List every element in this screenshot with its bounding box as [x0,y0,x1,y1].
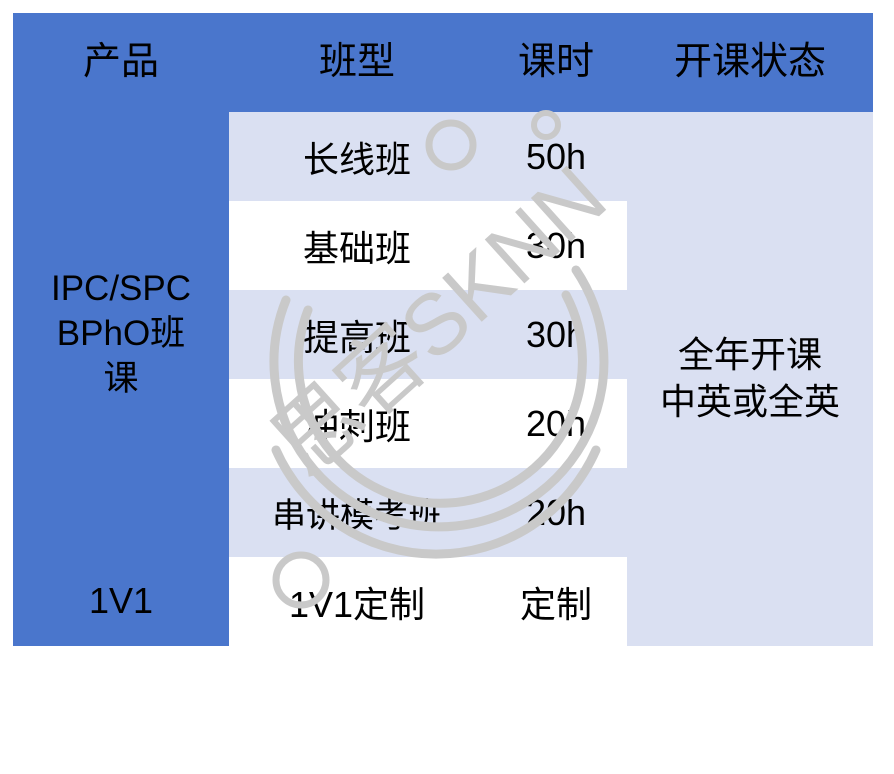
class-hours-cell: 20h [485,379,627,468]
class-hours-cell: 30h [485,201,627,290]
class-type-cell: 串讲模考班 [229,468,485,557]
product-group-cell: 1V1 [13,557,229,646]
column-header-type: 班型 [229,13,485,112]
product-line: 课 [13,357,229,402]
course-table: 产品 班型 课时 开课状态 IPC/SPC BPhO班 课 长线班 50h [13,13,873,646]
table-header-row: 产品 班型 课时 开课状态 [13,13,873,112]
class-hours-cell: 定制 [485,557,627,646]
status-cell: 全年开课 中英或全英 [627,112,873,646]
class-type-cell: 1V1定制 [229,557,485,646]
class-hours-cell: 20h [485,468,627,557]
course-table-page: 思客SKNN 产品 班型 课时 开课状态 IPC/SPC [0,0,894,774]
class-hours-cell: 50h [485,112,627,201]
column-header-status: 开课状态 [627,13,873,112]
column-header-hours: 课时 [485,13,627,112]
product-line: IPC/SPC [13,267,229,312]
product-group-cell: IPC/SPC BPhO班 课 [13,112,229,557]
table-row: IPC/SPC BPhO班 课 长线班 50h 全年开课 中英或全英 [13,112,873,201]
product-line: BPhO班 [13,312,229,357]
class-hours-cell: 30h [485,290,627,379]
status-line: 中英或全英 [627,379,873,426]
status-line: 全年开课 [627,332,873,379]
class-type-cell: 基础班 [229,201,485,290]
class-type-cell: 提高班 [229,290,485,379]
class-type-cell: 长线班 [229,112,485,201]
class-type-cell: 冲刺班 [229,379,485,468]
column-header-product: 产品 [13,13,229,112]
product-line: 1V1 [13,578,229,624]
